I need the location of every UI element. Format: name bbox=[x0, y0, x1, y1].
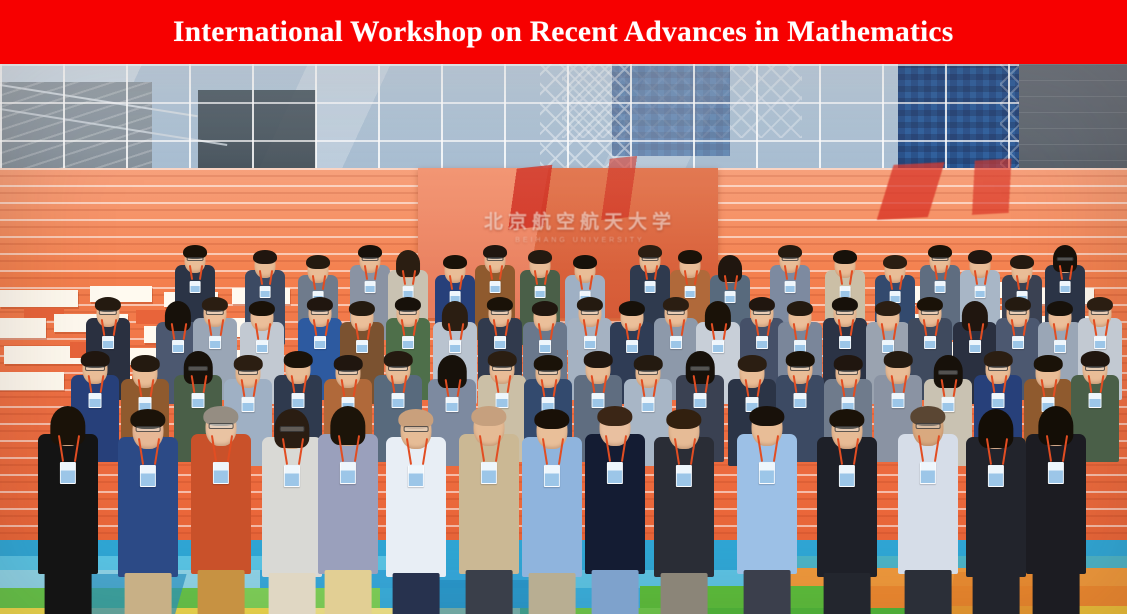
legs bbox=[529, 573, 576, 614]
hair bbox=[787, 301, 813, 316]
legs bbox=[1033, 570, 1080, 614]
eyeglasses bbox=[838, 370, 858, 375]
hair bbox=[619, 301, 645, 316]
legs bbox=[466, 570, 513, 614]
hair bbox=[330, 406, 365, 446]
participant bbox=[737, 404, 797, 574]
name-badge bbox=[694, 393, 707, 408]
legs bbox=[198, 570, 245, 614]
eyeglasses bbox=[338, 370, 358, 375]
eyeglasses bbox=[99, 310, 117, 315]
name-badge bbox=[481, 462, 497, 484]
hair bbox=[1034, 355, 1063, 372]
participant bbox=[1026, 404, 1086, 574]
eyeglasses bbox=[188, 366, 208, 371]
participant bbox=[318, 404, 378, 574]
torso bbox=[38, 434, 98, 574]
participant bbox=[817, 407, 877, 577]
name-badge bbox=[920, 462, 936, 484]
eyeglasses bbox=[988, 366, 1008, 371]
name-badge bbox=[935, 281, 946, 293]
eyeglasses bbox=[836, 310, 854, 315]
hair bbox=[573, 255, 597, 269]
hair bbox=[532, 301, 558, 316]
hair bbox=[438, 355, 467, 388]
hair bbox=[584, 351, 613, 368]
legs bbox=[824, 573, 871, 614]
hair bbox=[962, 301, 988, 330]
eyeglasses bbox=[921, 310, 939, 315]
participant bbox=[522, 407, 582, 577]
hair bbox=[875, 301, 901, 316]
name-badge bbox=[839, 465, 855, 487]
torso bbox=[318, 434, 378, 574]
hair bbox=[978, 409, 1013, 449]
name-badge bbox=[544, 465, 560, 487]
torso bbox=[966, 437, 1026, 577]
eyeglasses bbox=[492, 366, 512, 371]
hair bbox=[883, 255, 907, 269]
torso bbox=[118, 437, 178, 577]
hair bbox=[1038, 406, 1073, 446]
eyeglasses bbox=[638, 370, 658, 375]
participant bbox=[386, 407, 446, 577]
eyeglasses bbox=[1091, 310, 1109, 315]
name-badge bbox=[607, 462, 623, 484]
name-badge bbox=[392, 393, 405, 408]
name-badge bbox=[756, 336, 768, 350]
legs bbox=[269, 573, 316, 614]
hair bbox=[597, 406, 632, 427]
eyeglasses bbox=[1085, 366, 1105, 371]
torso bbox=[898, 434, 958, 574]
legs bbox=[744, 570, 791, 614]
hair bbox=[131, 355, 160, 372]
eyeglasses bbox=[280, 426, 305, 432]
eyeglasses bbox=[85, 366, 105, 371]
participant bbox=[585, 404, 645, 574]
legs bbox=[393, 573, 440, 614]
hair bbox=[528, 250, 552, 264]
torso bbox=[654, 437, 714, 577]
hair bbox=[678, 250, 702, 264]
eyeglasses bbox=[690, 366, 710, 371]
name-badge bbox=[260, 286, 271, 298]
name-badge bbox=[645, 281, 656, 293]
name-badge bbox=[292, 393, 305, 408]
hair bbox=[284, 351, 313, 368]
torso bbox=[585, 434, 645, 574]
name-badge bbox=[494, 336, 506, 350]
name-badge bbox=[408, 465, 424, 487]
torso bbox=[262, 437, 322, 577]
name-badge bbox=[402, 336, 414, 350]
torso bbox=[522, 437, 582, 577]
title-banner: International Workshop on Recent Advance… bbox=[0, 0, 1127, 64]
name-badge bbox=[975, 286, 986, 298]
name-badge bbox=[992, 393, 1005, 408]
torso bbox=[386, 437, 446, 577]
screenshot-root: International Workshop on Recent Advance… bbox=[0, 0, 1127, 614]
hair bbox=[884, 351, 913, 368]
hair bbox=[306, 255, 330, 269]
name-badge bbox=[209, 336, 221, 350]
workshop-title: International Workshop on Recent Advance… bbox=[173, 15, 953, 49]
legs bbox=[973, 573, 1020, 614]
eyeglasses bbox=[187, 257, 204, 261]
name-badge bbox=[102, 336, 114, 350]
name-badge bbox=[356, 340, 368, 354]
hair bbox=[705, 301, 731, 330]
eyeglasses bbox=[362, 257, 379, 261]
name-badge bbox=[60, 462, 76, 484]
hair bbox=[1047, 301, 1073, 316]
eyeglasses bbox=[491, 310, 509, 315]
name-badge bbox=[1054, 340, 1066, 354]
name-badge bbox=[449, 340, 461, 354]
name-badge bbox=[365, 281, 376, 293]
name-badge bbox=[785, 281, 796, 293]
participant bbox=[262, 407, 322, 577]
torso bbox=[817, 437, 877, 577]
legs bbox=[125, 573, 172, 614]
participant bbox=[966, 407, 1026, 577]
name-badge bbox=[1012, 336, 1024, 350]
hair bbox=[738, 355, 767, 372]
participants-crowd bbox=[0, 64, 1127, 614]
hair bbox=[749, 406, 784, 427]
eyeglasses bbox=[399, 310, 417, 315]
hair bbox=[968, 250, 992, 264]
name-badge bbox=[676, 465, 692, 487]
eyeglasses bbox=[835, 426, 860, 432]
hair bbox=[471, 406, 506, 427]
torso bbox=[1026, 434, 1086, 574]
name-badge bbox=[759, 462, 775, 484]
eyeglasses bbox=[538, 370, 558, 375]
legs bbox=[592, 570, 639, 614]
name-badge bbox=[924, 336, 936, 350]
hair bbox=[443, 255, 467, 269]
torso bbox=[191, 434, 251, 574]
name-badge bbox=[490, 281, 501, 293]
eyeglasses bbox=[487, 257, 504, 261]
name-badge bbox=[1094, 336, 1106, 350]
eyeglasses bbox=[206, 310, 224, 315]
torso bbox=[459, 434, 519, 574]
participant bbox=[191, 404, 251, 574]
legs bbox=[905, 570, 952, 614]
hair bbox=[833, 250, 857, 264]
legs bbox=[661, 573, 708, 614]
hair bbox=[349, 301, 375, 316]
eyeglasses bbox=[404, 426, 429, 432]
name-badge bbox=[314, 336, 326, 350]
eyeglasses bbox=[238, 370, 258, 375]
eyeglasses bbox=[311, 310, 329, 315]
name-badge bbox=[190, 281, 201, 293]
torso bbox=[737, 434, 797, 574]
group-photo: 北京航空航天大学 BEIHANG UNIVERSITY bbox=[0, 64, 1127, 614]
hair bbox=[442, 301, 468, 330]
name-badge bbox=[539, 340, 551, 354]
hair bbox=[396, 250, 420, 277]
name-badge bbox=[1048, 462, 1064, 484]
hair bbox=[666, 409, 701, 430]
name-badge bbox=[988, 465, 1004, 487]
legs bbox=[45, 570, 92, 614]
hair bbox=[718, 255, 742, 282]
name-badge bbox=[446, 397, 459, 412]
eyeglasses bbox=[136, 426, 161, 432]
name-badge bbox=[213, 462, 229, 484]
participant bbox=[118, 407, 178, 577]
eyeglasses bbox=[1009, 310, 1027, 315]
name-badge bbox=[340, 462, 356, 484]
eyeglasses bbox=[667, 310, 685, 315]
hair bbox=[253, 250, 277, 264]
hair bbox=[249, 301, 275, 316]
eyeglasses bbox=[1057, 257, 1074, 261]
hair bbox=[534, 409, 569, 430]
name-badge bbox=[535, 286, 546, 298]
eyeglasses bbox=[932, 257, 949, 261]
participant bbox=[38, 404, 98, 574]
name-badge bbox=[1089, 393, 1102, 408]
name-badge bbox=[1060, 281, 1071, 293]
participant bbox=[459, 404, 519, 574]
eyeglasses bbox=[753, 310, 771, 315]
eyeglasses bbox=[916, 423, 941, 429]
hair bbox=[1010, 255, 1034, 269]
name-badge bbox=[626, 340, 638, 354]
eyeglasses bbox=[938, 370, 958, 375]
name-badge bbox=[584, 336, 596, 350]
participant bbox=[898, 404, 958, 574]
participant bbox=[654, 407, 714, 577]
name-badge bbox=[256, 340, 268, 354]
name-badge bbox=[839, 336, 851, 350]
name-badge bbox=[670, 336, 682, 350]
eyeglasses bbox=[388, 366, 408, 371]
hair bbox=[50, 406, 85, 446]
name-badge bbox=[284, 465, 300, 487]
eyeglasses bbox=[782, 257, 799, 261]
eyeglasses bbox=[581, 310, 599, 315]
eyeglasses bbox=[790, 366, 810, 371]
hair bbox=[165, 301, 191, 330]
legs bbox=[325, 570, 372, 614]
eyeglasses bbox=[209, 423, 234, 429]
name-badge bbox=[140, 465, 156, 487]
eyeglasses bbox=[642, 257, 659, 261]
